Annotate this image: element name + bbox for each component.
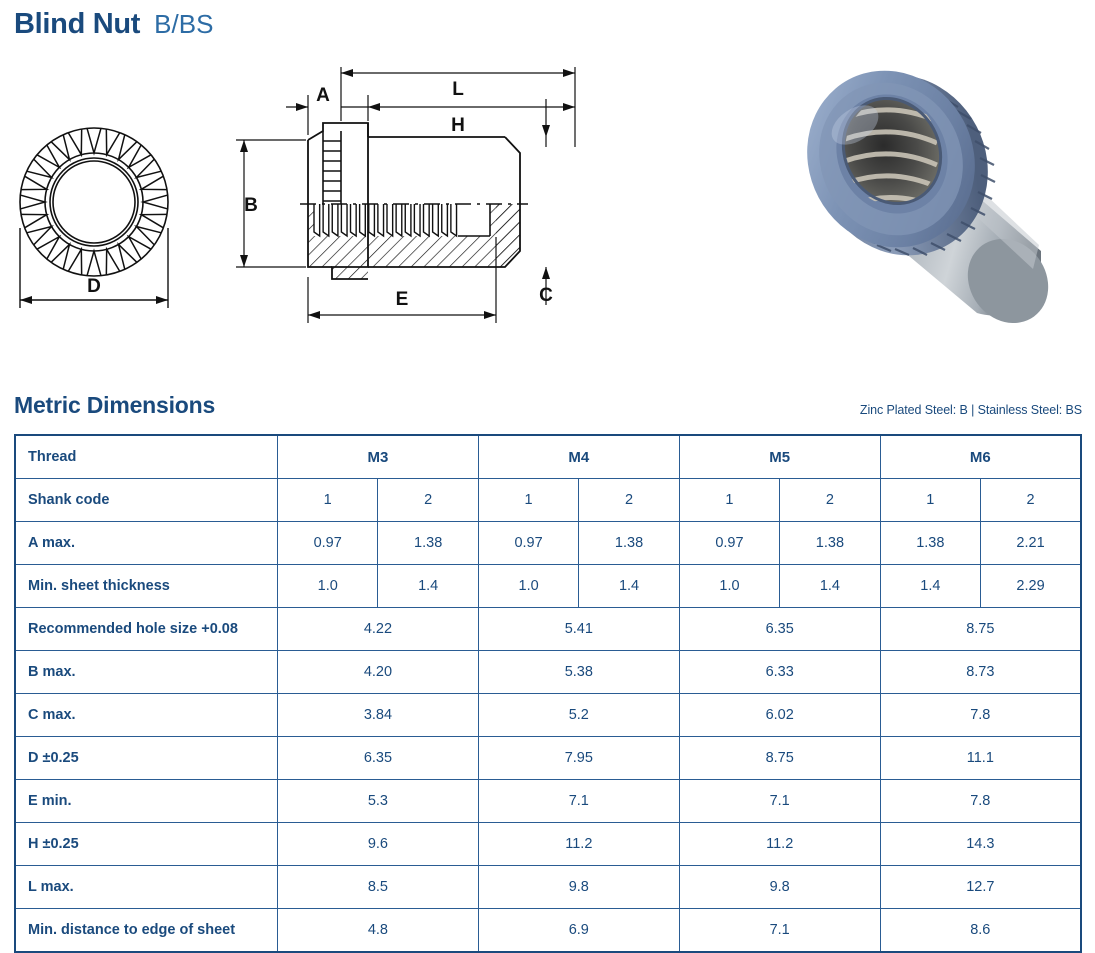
value-cell: 1.0 — [278, 565, 378, 608]
table-row: Recommended hole size +0.084.225.416.358… — [15, 608, 1081, 651]
row-label: H ±0.25 — [15, 823, 278, 866]
section-heading: Metric Dimensions — [14, 392, 215, 419]
thread-header-m6: M6 — [880, 435, 1081, 479]
row-label: B max. — [15, 651, 278, 694]
value-cell: 6.9 — [478, 909, 679, 953]
knurl-tooth — [136, 227, 161, 245]
value-cell: 7.95 — [478, 737, 679, 780]
value-cell: 4.22 — [278, 608, 479, 651]
thread-header-m4: M4 — [478, 435, 679, 479]
row-label: A max. — [15, 522, 278, 565]
value-cell: 6.35 — [278, 737, 479, 780]
dimension-label-d: D — [87, 276, 101, 297]
value-cell: 6.35 — [679, 608, 880, 651]
value-cell: 0.97 — [478, 522, 578, 565]
row-label: Min. sheet thickness — [15, 565, 278, 608]
value-cell: 7.1 — [679, 909, 880, 953]
value-cell: 4.20 — [278, 651, 479, 694]
table-row: C max.3.845.26.027.8 — [15, 694, 1081, 737]
row-label: Min. distance to edge of sheet — [15, 909, 278, 953]
value-cell: 1.4 — [378, 565, 478, 608]
blind-nut-photo-svg — [795, 55, 1090, 345]
knurl-tooth — [119, 135, 137, 160]
table-row: A max.0.971.380.971.380.971.381.382.21 — [15, 522, 1081, 565]
knurl-tooth — [129, 237, 151, 259]
figures-band: D — [0, 55, 1095, 355]
row-label: L max. — [15, 866, 278, 909]
value-cell: 11.2 — [679, 823, 880, 866]
value-cell: 12.7 — [880, 866, 1081, 909]
value-cell: 1.4 — [780, 565, 880, 608]
knurl-tooth — [51, 135, 69, 160]
flange-knurl-ladder — [323, 141, 341, 201]
table-row-shank-code: Shank code12121212 — [15, 479, 1081, 522]
value-cell: 5.2 — [478, 694, 679, 737]
value-cell: 1.38 — [378, 522, 478, 565]
table-row: Min. distance to edge of sheet4.86.97.18… — [15, 909, 1081, 953]
value-cell: 1.38 — [579, 522, 679, 565]
knurl-tooth — [143, 195, 168, 209]
knurl-teeth — [20, 128, 167, 275]
table-row: B max.4.205.386.338.73 — [15, 651, 1081, 694]
knurl-tooth — [37, 145, 59, 167]
value-cell: 1.4 — [880, 565, 980, 608]
value-cell: 7.8 — [880, 694, 1081, 737]
table-row: Min. sheet thickness1.01.41.01.41.01.41.… — [15, 565, 1081, 608]
row-label: C max. — [15, 694, 278, 737]
value-cell: 9.8 — [679, 866, 880, 909]
thread-header-m3: M3 — [278, 435, 479, 479]
cross-section-drawing: L H A B E C — [228, 55, 598, 340]
row-label-thread: Thread — [15, 435, 278, 479]
knurl-tooth — [106, 249, 119, 275]
shank-code-cell: 1 — [679, 479, 779, 522]
value-cell: 0.97 — [278, 522, 378, 565]
top-view-drawing: D — [6, 110, 206, 335]
table-row: E min.5.37.17.17.8 — [15, 780, 1081, 823]
value-cell: 7.8 — [880, 780, 1081, 823]
value-cell: 2.29 — [981, 565, 1081, 608]
bore-circle-outer — [50, 158, 138, 246]
value-cell: 5.41 — [478, 608, 679, 651]
product-code: B/BS — [154, 9, 213, 40]
value-cell: 0.97 — [679, 522, 779, 565]
knurl-tooth — [68, 249, 81, 275]
dimension-label-b: B — [244, 195, 258, 216]
material-note: Zinc Plated Steel: B | Stainless Steel: … — [860, 403, 1082, 417]
shank-code-cell: 2 — [378, 479, 478, 522]
knurl-tooth — [51, 244, 69, 269]
dimension-label-e: E — [396, 289, 409, 310]
knurl-tooth — [129, 145, 151, 167]
value-cell: 9.8 — [478, 866, 679, 909]
value-cell: 5.38 — [478, 651, 679, 694]
table-row: H ±0.259.611.211.214.3 — [15, 823, 1081, 866]
knurl-tooth — [27, 159, 52, 177]
value-cell: 3.84 — [278, 694, 479, 737]
value-cell: 7.1 — [478, 780, 679, 823]
value-cell: 1.38 — [880, 522, 980, 565]
row-label: E min. — [15, 780, 278, 823]
value-cell: 7.1 — [679, 780, 880, 823]
shank-code-cell: 2 — [579, 479, 679, 522]
knurl-tooth — [87, 251, 101, 276]
value-cell: 8.75 — [679, 737, 880, 780]
value-cell: 11.1 — [880, 737, 1081, 780]
value-cell: 8.5 — [278, 866, 479, 909]
value-cell: 1.4 — [579, 565, 679, 608]
value-cell: 1.0 — [478, 565, 578, 608]
row-label-shank-code: Shank code — [15, 479, 278, 522]
blind-nut-photo — [795, 55, 1090, 345]
dimension-label-c: C — [539, 285, 553, 306]
dimensions-table: ThreadM3M4M5M6Shank code12121212A max.0.… — [14, 434, 1082, 953]
knurl-tooth — [106, 129, 119, 155]
knurl-tooth — [141, 214, 167, 227]
value-cell: 9.6 — [278, 823, 479, 866]
dimension-label-l: L — [452, 79, 464, 100]
table-row-thread: ThreadM3M4M5M6 — [15, 435, 1081, 479]
table-row: L max.8.59.89.812.7 — [15, 866, 1081, 909]
bore-circle-inner — [53, 161, 135, 243]
value-cell: 14.3 — [880, 823, 1081, 866]
table-row: D ±0.256.357.958.7511.1 — [15, 737, 1081, 780]
knurl-tooth — [27, 227, 52, 245]
shank-code-cell: 1 — [478, 479, 578, 522]
value-cell: 1.38 — [780, 522, 880, 565]
shank-code-cell: 1 — [278, 479, 378, 522]
knurl-tooth — [141, 176, 167, 189]
knurl-tooth — [136, 159, 161, 177]
section-hatch-end — [496, 204, 520, 267]
knurl-tooth — [21, 176, 47, 189]
shank-code-cell: 1 — [880, 479, 980, 522]
value-cell: 8.6 — [880, 909, 1081, 953]
dimensions-table-wrap: ThreadM3M4M5M6Shank code12121212A max.0.… — [14, 434, 1082, 953]
value-cell: 8.73 — [880, 651, 1081, 694]
row-label: Recommended hole size +0.08 — [15, 608, 278, 651]
shank-code-cell: 2 — [780, 479, 880, 522]
outer-circle — [20, 128, 168, 276]
top-view-svg: D — [6, 110, 206, 330]
value-cell: 1.0 — [679, 565, 779, 608]
dimension-label-a: A — [316, 85, 330, 106]
row-label: D ±0.25 — [15, 737, 278, 780]
cross-section-svg: L H A B E C — [228, 55, 598, 335]
dimension-lines — [236, 67, 575, 323]
knurl-tooth — [119, 244, 137, 269]
page-title: Blind Nut — [14, 8, 140, 41]
dimension-label-h: H — [451, 115, 465, 136]
knurl-tooth — [21, 214, 47, 227]
value-cell: 4.8 — [278, 909, 479, 953]
thread-header-m5: M5 — [679, 435, 880, 479]
knurl-tooth — [87, 128, 101, 153]
knurl-tooth — [68, 129, 81, 155]
page-header: Blind Nut B/BS — [14, 8, 213, 41]
value-cell: 8.75 — [880, 608, 1081, 651]
value-cell: 11.2 — [478, 823, 679, 866]
value-cell: 6.33 — [679, 651, 880, 694]
knurl-tooth — [37, 237, 59, 259]
shank-code-cell: 2 — [981, 479, 1081, 522]
knurl-tooth — [20, 195, 45, 209]
value-cell: 6.02 — [679, 694, 880, 737]
value-cell: 2.21 — [981, 522, 1081, 565]
value-cell: 5.3 — [278, 780, 479, 823]
